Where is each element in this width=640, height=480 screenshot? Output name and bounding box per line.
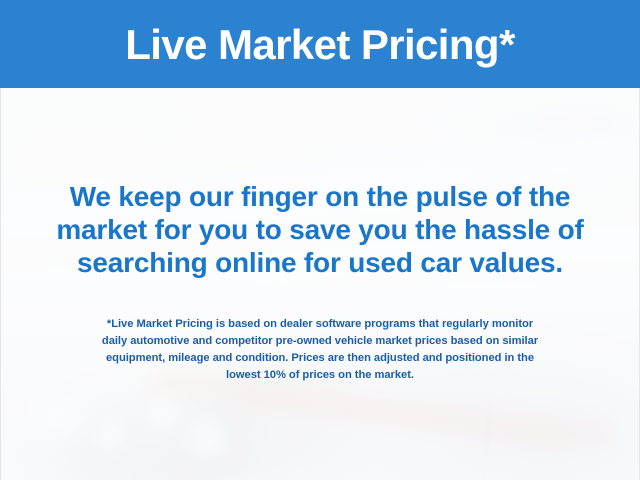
disclaimer-line-3: equipment, mileage and condition. Prices… [22, 350, 618, 367]
page-title: Live Market Pricing* [125, 24, 514, 66]
header-bar: Live Market Pricing* [0, 0, 640, 88]
disclaimer-line-2: daily automotive and competitor pre-owne… [22, 333, 618, 350]
headline-text: We keep our finger on the pulse of the m… [18, 180, 622, 279]
disclaimer-text: *Live Market Pricing is based on dealer … [22, 316, 618, 384]
disclaimer-line-4: lowest 10% of prices on the market. [22, 367, 618, 384]
headline-line-3: searching online for used car values. [18, 246, 622, 279]
headline-line-2: market for you to save you the hassle of [18, 213, 622, 246]
headline-line-1: We keep our finger on the pulse of the [18, 180, 622, 213]
content-area: We keep our finger on the pulse of the m… [0, 88, 640, 480]
live-market-pricing-banner: Live Market Pricing* We keep our finger … [0, 0, 640, 480]
disclaimer-line-1: *Live Market Pricing is based on dealer … [22, 316, 618, 333]
